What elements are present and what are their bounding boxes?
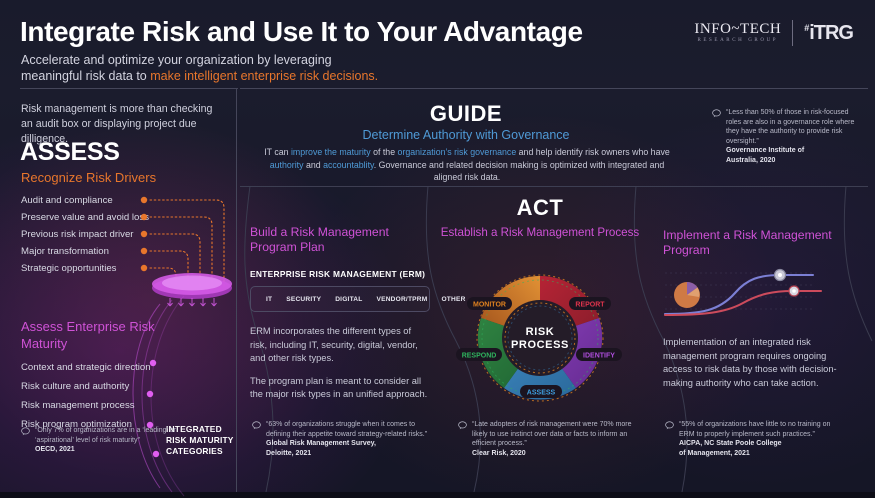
- list-item: Risk management process: [21, 396, 221, 415]
- act-heading: ACT: [440, 195, 640, 221]
- subtitle-line-2-plain: meaningful risk data to: [21, 69, 150, 83]
- maturity-label: Context and strategic direction: [21, 362, 151, 373]
- erm-tag-group: IT SECURITY DIGITAL VENDOR/TPRM OTHER: [250, 286, 430, 312]
- quote-source-line-2: Australia, 2020: [726, 156, 862, 166]
- act-section: ACT Establish a Risk Management Process: [440, 195, 640, 241]
- build-program-plan-section: Build a Risk Management Program Plan ENT…: [250, 225, 430, 402]
- implement-paragraph: Implementation of an integrated risk man…: [663, 336, 853, 390]
- svg-text:REPORT: REPORT: [575, 302, 605, 309]
- guide-body: IT can improve the maturity of the organ…: [262, 146, 672, 184]
- pie-mini-chart: [674, 282, 700, 308]
- guide-body-plain: IT can: [264, 147, 291, 157]
- subtitle-line-1: Accelerate and optimize your organizatio…: [21, 52, 378, 68]
- build-paragraph-2: The program plan is meant to consider al…: [250, 375, 430, 402]
- quote-bubble-icon: [712, 109, 721, 118]
- page-subtitle: Accelerate and optimize your organizatio…: [21, 52, 378, 84]
- risk-drivers-heading: Recognize Risk Drivers: [21, 170, 156, 185]
- wheel-center-line-2: PROCESS: [511, 339, 569, 351]
- list-item: Risk culture and authority: [21, 377, 221, 396]
- svg-text:ASSESS: ASSESS: [527, 390, 556, 397]
- guide-body-highlight: improve the maturity: [291, 147, 371, 157]
- maturity-label: Risk management process: [21, 400, 135, 411]
- brand-logos: INFO~TECH RESEARCH GROUP # iTRG: [694, 20, 853, 46]
- quote-bubble-icon: [21, 427, 30, 436]
- svg-text:RESPOND: RESPOND: [462, 353, 497, 360]
- maturity-list: Context and strategic direction Risk cul…: [21, 358, 221, 434]
- itrg-logo: # iTRG: [804, 23, 853, 43]
- erm-tag-security[interactable]: SECURITY: [279, 296, 328, 303]
- driver-label: Previous risk impact driver: [21, 229, 134, 240]
- page-title: Integrate Risk and Use It to Your Advant…: [20, 16, 583, 48]
- guide-body-highlight: accountablity: [323, 160, 374, 170]
- assess-heading: ASSESS: [20, 138, 120, 167]
- page-header: Integrate Risk and Use It to Your Advant…: [0, 0, 875, 88]
- svg-text:MONITOR: MONITOR: [473, 302, 506, 309]
- wheel-center-line-1: RISK: [526, 326, 555, 338]
- quote-text: “63% of organizations struggle when it c…: [266, 420, 432, 439]
- wheel-label-report: REPORT: [569, 297, 611, 310]
- build-quote: “63% of organizations struggle when it c…: [252, 420, 432, 458]
- erm-tag-vendor-tprm[interactable]: VENDOR/TPRM: [370, 296, 435, 303]
- guide-body-plain: . Governance and related decision making…: [374, 160, 664, 183]
- quote-text: “55% of organizations have little to no …: [679, 420, 845, 439]
- driver-label: Audit and compliance: [21, 195, 113, 206]
- quote-source-line-2: of Management, 2021: [679, 449, 845, 459]
- act-quote: “Late adopters of risk management were 7…: [458, 420, 638, 458]
- itrg-wordmark: iTRG: [809, 23, 853, 43]
- info-tech-wordmark: INFO~TECH: [694, 21, 781, 37]
- quote-text: “Less than 50% of those in risk-focused …: [726, 108, 862, 146]
- assess-quote: “Only 7% of organizations are in a ‘lead…: [21, 426, 211, 455]
- quote-source: Clear Risk, 2020: [472, 449, 638, 459]
- quote-bubble-icon: [665, 421, 674, 430]
- info-tech-tagline: RESEARCH GROUP: [694, 37, 781, 45]
- driver-label: Strategic opportunities: [21, 263, 116, 274]
- implement-heading: Implement a Risk Management Program: [663, 228, 853, 258]
- build-paragraph-1: ERM incorporates the different types of …: [250, 325, 430, 366]
- subtitle-line-2: meaningful risk data to make intelligent…: [21, 68, 378, 84]
- implement-quote: “55% of organizations have little to no …: [665, 420, 845, 458]
- quote-bubble-icon: [252, 421, 261, 430]
- wheel-label-respond: RESPOND: [456, 348, 502, 361]
- list-item: Context and strategic direction: [21, 358, 221, 377]
- quote-source-line-1: Global Risk Management Survey,: [266, 439, 432, 449]
- maturity-heading: Assess Enterprise Risk Maturity: [21, 318, 161, 352]
- svg-text:IDENTIFY: IDENTIFY: [583, 353, 615, 360]
- quote-text: “Only 7% of organizations are in a ‘lead…: [35, 426, 211, 445]
- wheel-label-identify: IDENTIFY: [576, 348, 622, 361]
- build-heading: Build a Risk Management Program Plan: [250, 225, 430, 255]
- guide-body-plain: and help identify risk owners who have: [516, 147, 670, 157]
- risk-process-wheel: RISK PROCESS MONITOR REPORT IDENTIFY ASS…: [454, 268, 626, 408]
- guide-body-plain: and: [304, 160, 324, 170]
- quote-source-line-1: Governance Institute of: [726, 146, 862, 156]
- erm-label: ENTERPRISE RISK MANAGEMENT (ERM): [250, 269, 430, 279]
- driver-label: Preserve value and avoid loss: [21, 212, 149, 223]
- guide-body-highlight: authority: [270, 160, 304, 170]
- guide-section-rule: [240, 186, 868, 187]
- guide-subheading: Determine Authority with Governance: [236, 128, 696, 142]
- subtitle-highlight: make intelligent enterprise risk decisio…: [150, 69, 378, 83]
- quote-text: “Late adopters of risk management were 7…: [472, 420, 638, 449]
- quote-source-line-2: Deloitte, 2021: [266, 449, 432, 459]
- guide-body-plain: of the: [371, 147, 398, 157]
- implement-trend-chart: [663, 267, 829, 320]
- quote-source: OECD, 2021: [35, 445, 211, 455]
- wheel-label-assess: ASSESS: [520, 385, 562, 398]
- implement-program-section: Implement a Risk Management Program Impl…: [663, 228, 853, 390]
- logo-divider: [792, 20, 793, 46]
- quote-bubble-icon: [458, 421, 467, 430]
- guide-quote: “Less than 50% of those in risk-focused …: [712, 108, 862, 166]
- wheel-label-monitor: MONITOR: [467, 297, 512, 310]
- quote-source-line-1: AICPA, NC State Poole College: [679, 439, 845, 449]
- guide-body-highlight: organization’s risk governance: [398, 147, 517, 157]
- driver-label: Major transformation: [21, 246, 109, 257]
- maturity-label: Risk culture and authority: [21, 381, 129, 392]
- assess-column: Risk management is more than checking an…: [0, 88, 236, 492]
- guide-section: GUIDE Determine Authority with Governanc…: [236, 88, 696, 188]
- info-tech-logo: INFO~TECH RESEARCH GROUP: [694, 21, 781, 45]
- guide-heading: GUIDE: [236, 101, 696, 127]
- erm-tag-digital[interactable]: DIGITAL: [328, 296, 369, 303]
- erm-tag-it[interactable]: IT: [259, 296, 279, 303]
- act-subheading: Establish a Risk Management Process: [440, 226, 640, 241]
